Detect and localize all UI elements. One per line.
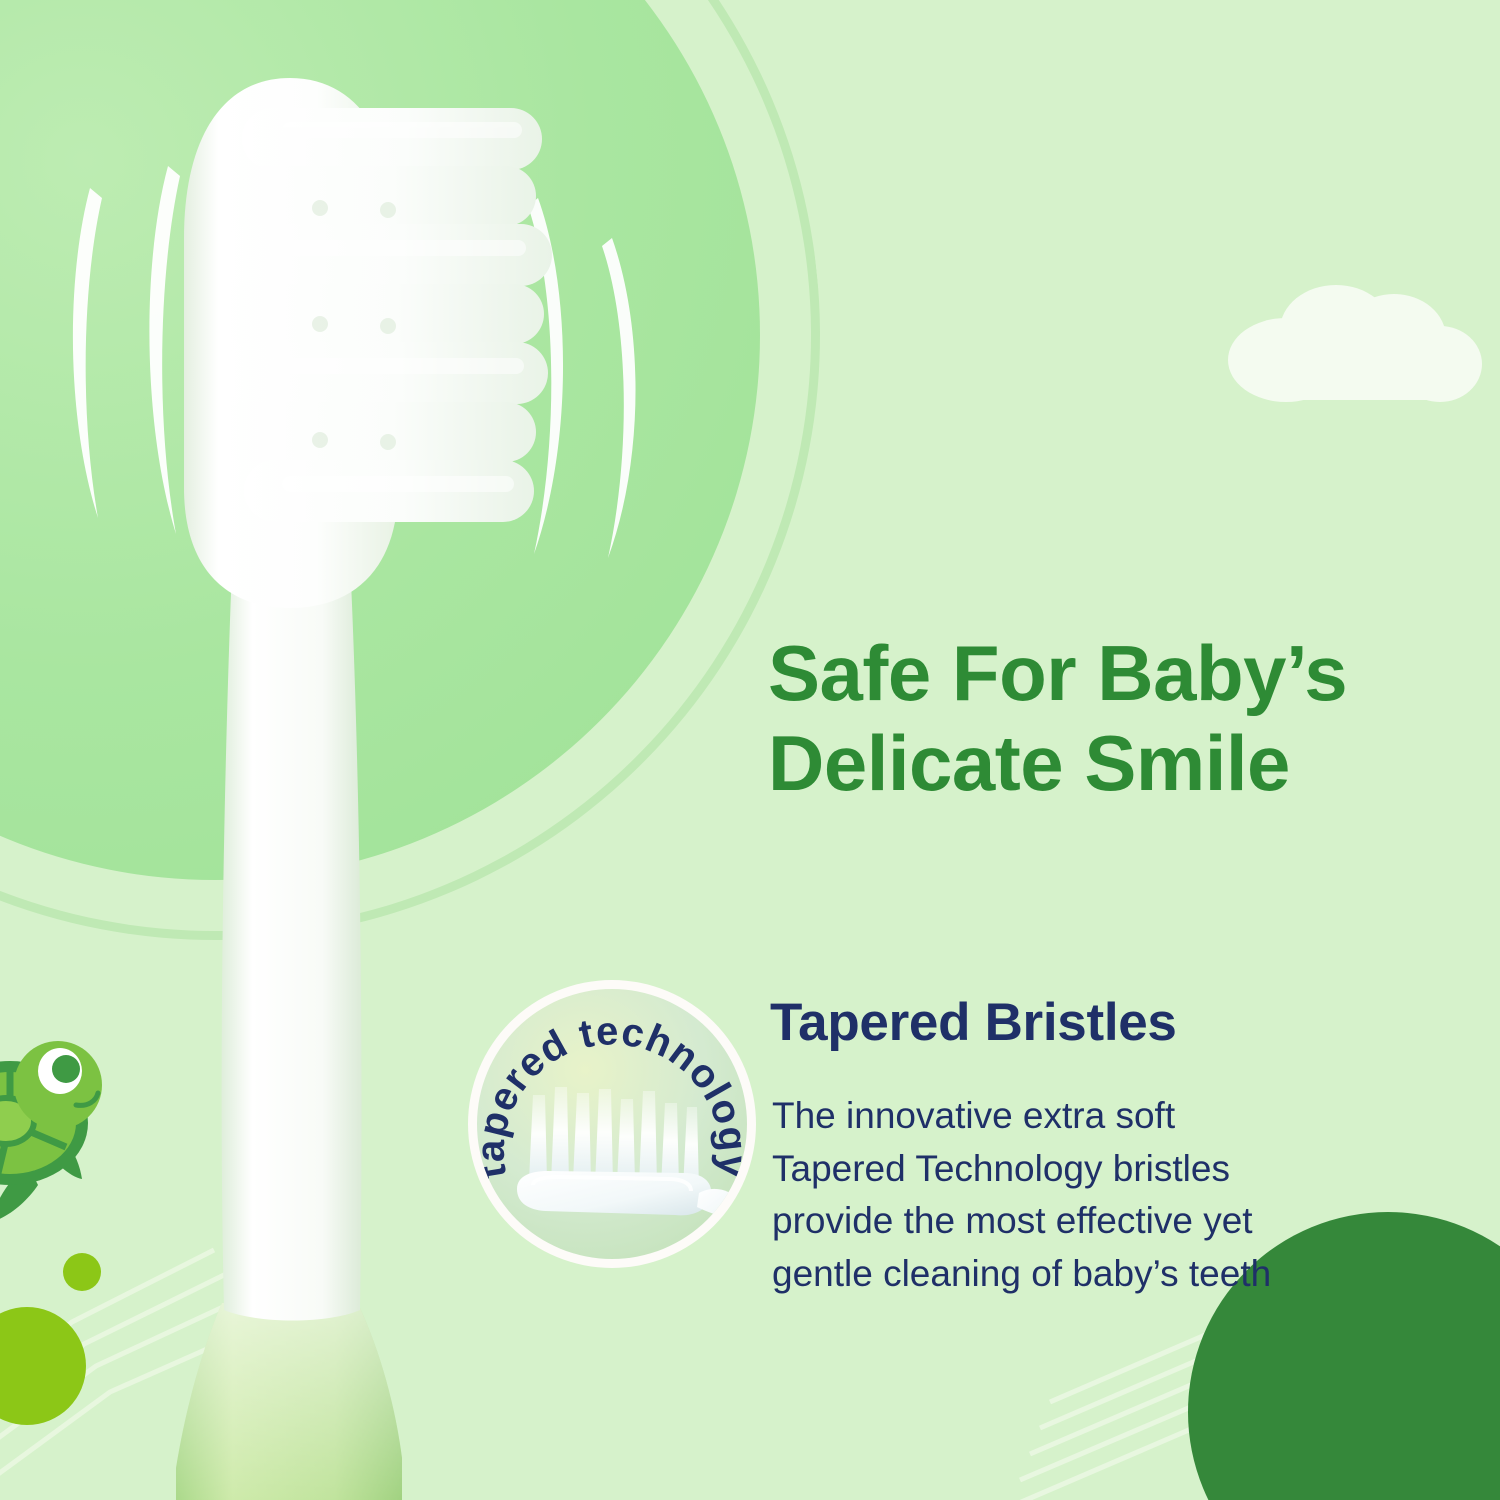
tapered-technology-badge: tapered technology: [468, 980, 756, 1268]
product-feature-banner: Safe For Baby’s Delicate Smile Tapered B…: [0, 0, 1500, 1500]
feature-body-line-3: provide the most effective yet: [772, 1195, 1352, 1248]
headline: Safe For Baby’s Delicate Smile: [768, 628, 1468, 809]
toothbrush-bristles: [218, 108, 552, 522]
vibration-arc-left: [73, 166, 180, 534]
feature-title: Tapered Bristles: [770, 992, 1177, 1053]
svg-text:tapered technology: tapered technology: [477, 1009, 747, 1182]
badge-label: tapered technology: [477, 989, 747, 1259]
feature-body: The innovative extra soft Tapered Techno…: [772, 1090, 1352, 1300]
toothbrush-handle: [222, 518, 362, 1321]
feature-body-line-2: Tapered Technology bristles: [772, 1143, 1352, 1196]
badge-face: tapered technology: [477, 989, 747, 1259]
feature-body-line-1: The innovative extra soft: [772, 1090, 1352, 1143]
headline-line-2: Delicate Smile: [768, 718, 1468, 808]
feature-body-line-4: gentle cleaning of baby’s teeth: [772, 1248, 1352, 1301]
toothbrush-illustration: [72, 48, 672, 1500]
headline-line-1: Safe For Baby’s: [768, 628, 1468, 718]
cloud-icon: [1216, 276, 1484, 408]
